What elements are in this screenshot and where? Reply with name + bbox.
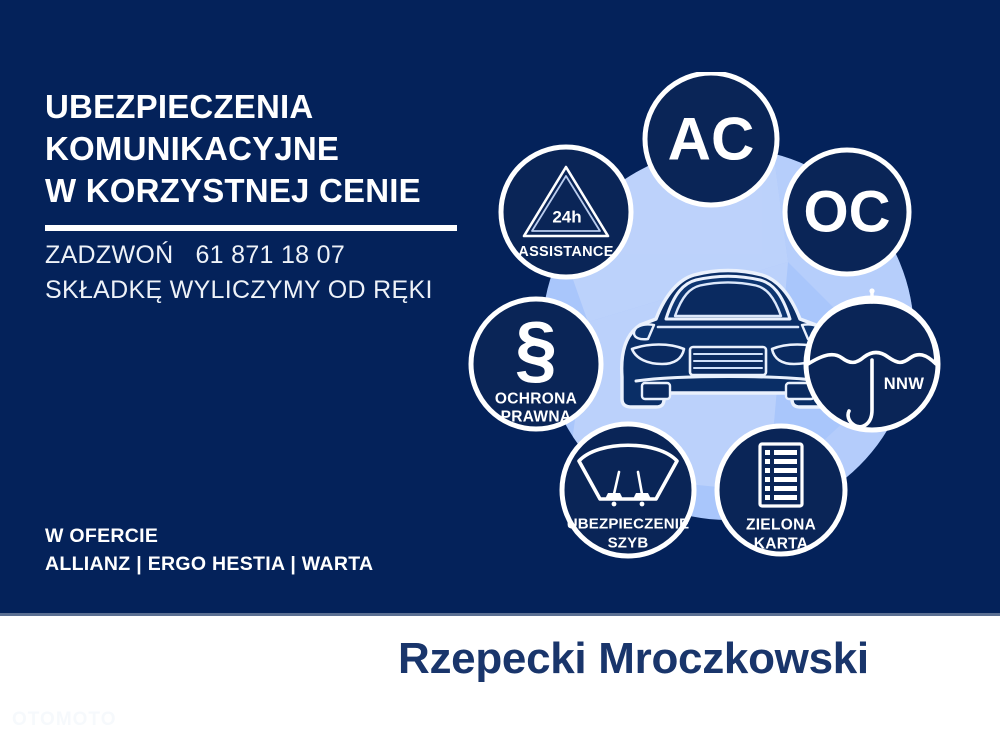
insurance-coverage-graphic: AC OC 24h ASSISTANCE § OCHR	[468, 72, 988, 592]
headline-line-1: UBEZPIECZENIA	[45, 86, 475, 128]
section-sign-icon: §	[515, 307, 557, 392]
offer-block: W OFERCIE ALLIANZ | ERGO HESTIA | WARTA	[45, 523, 373, 578]
subheadline-line-2: SKŁADKĘ WYLICZYMY OD RĘKI	[45, 273, 485, 308]
headline-line-2: KOMUNIKACYJNE	[45, 128, 475, 170]
call-row: ZADZWOŃ61 871 18 07	[45, 238, 485, 273]
headline: UBEZPIECZENIA KOMUNIKACYJNE W KORZYSTNEJ…	[45, 86, 475, 212]
szyby-label-line-2: SZYB	[608, 535, 649, 552]
call-label: ZADZWOŃ	[45, 241, 173, 269]
ochrona-prawna-label-line-1: OCHRONA	[495, 391, 577, 408]
offer-insurers: ALLIANZ | ERGO HESTIA | WARTA	[45, 551, 373, 579]
zielona-karta-label-line-1: ZIELONA	[746, 517, 816, 534]
nnw-label: NNW	[884, 375, 925, 393]
node-ochrona-prawna[interactable]: § OCHRONA PRAWNA	[471, 299, 601, 429]
node-zielona-karta[interactable]: ZIELONA KARTA	[717, 426, 845, 554]
subheadline: ZADZWOŃ61 871 18 07 SKŁADKĘ WYLICZYMY OD…	[45, 238, 485, 307]
zielona-karta-label-line-2: KARTA	[754, 536, 809, 553]
node-assistance[interactable]: 24h ASSISTANCE	[501, 147, 631, 277]
company-name: Rzepecki Mroczkowski	[398, 634, 869, 684]
node-ubezpieczenie-szyb[interactable]: UBEZPIECZENIE SZYB	[562, 424, 694, 556]
node-ac[interactable]: AC	[645, 73, 777, 205]
watermark: OTOMOTO	[12, 709, 116, 731]
advertisement-banner: UBEZPIECZENIA KOMUNIKACYJNE W KORZYSTNEJ…	[0, 0, 1000, 750]
assistance-hours-text: 24h	[552, 208, 581, 227]
node-oc[interactable]: OC	[785, 150, 909, 274]
phone-number[interactable]: 61 871 18 07	[195, 241, 345, 269]
offer-heading: W OFERCIE	[45, 523, 373, 551]
oc-text-icon: OC	[804, 180, 891, 245]
ac-text-icon: AC	[668, 106, 755, 173]
assistance-label: ASSISTANCE	[518, 244, 613, 260]
szyby-label-line-1: UBEZPIECZENIE	[567, 516, 690, 533]
ochrona-prawna-label-line-2: PRAWNA	[501, 409, 572, 426]
headline-line-3: W KORZYSTNEJ CENIE	[45, 170, 475, 212]
headline-underline	[45, 225, 457, 231]
